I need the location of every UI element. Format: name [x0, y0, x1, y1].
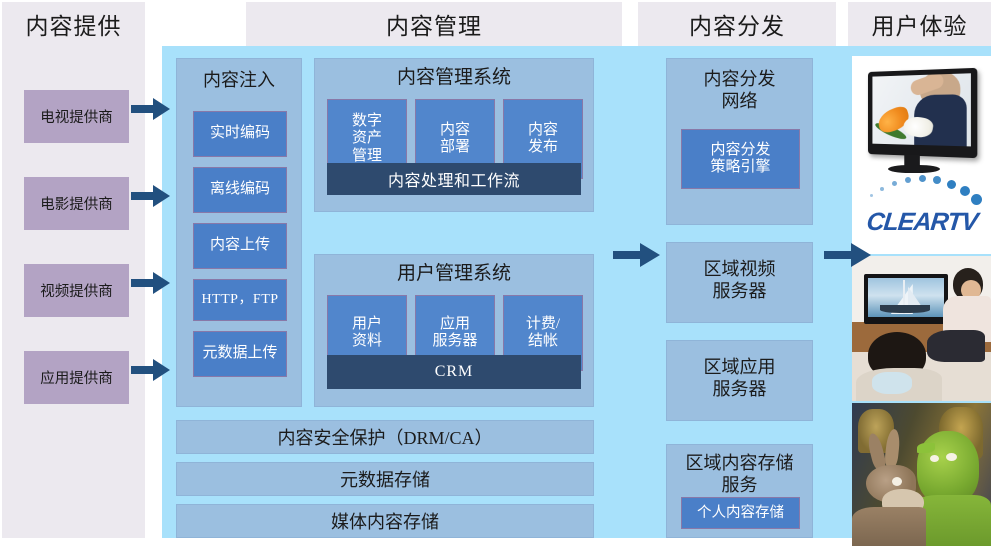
column-header-content-distribute: 内容分发	[638, 2, 836, 46]
arrow-tv-provider	[131, 96, 171, 122]
arrow-app-provider	[131, 357, 171, 383]
ums-cell-app-server-label: 应用 服务器	[432, 316, 477, 351]
arrow-video-provider	[131, 270, 171, 296]
tv-model-photo: CLEARTV	[852, 56, 991, 254]
ogre-eye-right	[946, 453, 957, 461]
ums-cell-billing-label: 计费/ 结帐	[526, 316, 560, 351]
bar-media-storage[interactable]: 媒体内容存储	[176, 504, 594, 538]
cms-cell-content-publish-label: 内容 发布	[528, 122, 558, 157]
hull	[880, 305, 930, 313]
provider-box-movie-label: 电影提供商	[40, 193, 113, 214]
chip-offline-encoding[interactable]: 离线编码	[193, 167, 287, 213]
cms-title: 内容管理系统	[315, 67, 593, 89]
column-header-content-distribute-label: 内容分发	[689, 7, 785, 41]
content-injection-title: 内容注入	[177, 70, 301, 91]
provider-box-tv-label: 电视提供商	[40, 106, 113, 127]
regional-video-server-box[interactable]: 区域视频 服务器	[666, 242, 813, 323]
cms-workflow-bar[interactable]: 内容处理和工作流	[327, 163, 581, 195]
woman-legs	[927, 330, 985, 362]
tv-screen-sailboat	[868, 278, 944, 317]
logo-dot-arc	[868, 174, 976, 204]
chip-http-ftp-label: HTTP，FTP	[201, 292, 278, 308]
cdn-panel: 内容分发 网络 内容分发 策略引擎	[666, 58, 813, 225]
regional-content-storage-panel: 区域内容存储 服务 个人内容存储	[666, 444, 813, 538]
cleartv-logo: CLEARTV	[858, 202, 986, 242]
bar-content-security-label: 内容安全保护（DRM/CA）	[277, 424, 492, 450]
cdn-title: 内容分发 网络	[667, 69, 812, 112]
column-header-content-manage-label: 内容管理	[386, 7, 482, 41]
architecture-diagram: 内容提供 内容管理 内容分发 用户体验 电视提供商 电影提供商 视频提供商 应用…	[0, 0, 993, 548]
blue-backdrop: 内容注入 实时编码 离线编码 内容上传 HTTP，FTP 元数据上传 内容管理系…	[162, 46, 991, 538]
bar-media-storage-label: 媒体内容存储	[331, 508, 439, 534]
cms-cell-digital-asset-management-label: 数字 资产 管理	[352, 113, 382, 165]
chip-metadata-upload[interactable]: 元数据上传	[193, 331, 287, 377]
ums-title: 用户管理系统	[315, 263, 593, 285]
provider-box-app-label: 应用提供商	[40, 367, 113, 388]
animated-movie-photo	[852, 403, 991, 546]
user-experience-photo-stack: CLEARTV	[852, 56, 991, 536]
chip-personal-content-storage-label: 个人内容存储	[697, 505, 784, 522]
arrow-distribute-to-experience	[824, 241, 872, 269]
provider-box-video[interactable]: 视频提供商	[24, 264, 129, 317]
chip-realtime-encoding-label: 实时编码	[210, 125, 270, 142]
column-header-user-experience: 用户体验	[848, 2, 991, 46]
chip-cdn-policy-engine[interactable]: 内容分发 策略引擎	[681, 129, 800, 189]
bar-metadata-storage-label: 元数据存储	[340, 466, 430, 492]
chip-metadata-upload-label: 元数据上传	[202, 345, 277, 362]
chip-offline-encoding-label: 离线编码	[210, 181, 270, 198]
ums-crm-bar-label: CRM	[435, 363, 474, 381]
flat-tv-icon	[864, 274, 948, 324]
donkey-eye	[892, 477, 902, 486]
child-shirt	[872, 372, 912, 394]
content-injection-panel: 内容注入 实时编码 离线编码 内容上传 HTTP，FTP 元数据上传	[176, 58, 302, 407]
column-header-content-provide-label: 内容提供	[26, 7, 122, 41]
column-header-content-manage: 内容管理	[246, 2, 622, 46]
provider-box-movie[interactable]: 电影提供商	[24, 177, 129, 230]
provider-box-video-label: 视频提供商	[40, 280, 113, 301]
arrow-movie-provider	[131, 183, 171, 209]
ogre-eye-left	[930, 455, 939, 462]
ums-crm-bar[interactable]: CRM	[327, 355, 581, 389]
chip-content-upload-label: 内容上传	[210, 237, 270, 254]
regional-app-server-label: 区域应用 服务器	[667, 357, 812, 400]
tv-frame-icon	[868, 68, 977, 158]
family-watching-tv-photo	[852, 256, 991, 401]
ogre-ear	[917, 443, 935, 453]
chip-http-ftp[interactable]: HTTP，FTP	[193, 279, 287, 321]
arrow-manage-to-distribute	[613, 241, 661, 269]
column-header-content-provide: 内容提供	[2, 2, 145, 46]
bar-metadata-storage[interactable]: 元数据存储	[176, 462, 594, 496]
chip-personal-content-storage[interactable]: 个人内容存储	[681, 497, 800, 529]
donkey-body	[852, 507, 926, 546]
tv-screen	[872, 73, 971, 146]
ums-panel: 用户管理系统 用户 资料 应用 服务器 计费/ 结帐 CRM	[314, 254, 594, 407]
chip-realtime-encoding[interactable]: 实时编码	[193, 111, 287, 157]
regional-app-server-box[interactable]: 区域应用 服务器	[666, 340, 813, 421]
cms-panel: 内容管理系统 数字 资产 管理 内容 部署 内容 发布 内容处理和工作流	[314, 58, 594, 212]
cms-cell-content-deploy-label: 内容 部署	[440, 122, 470, 157]
cms-workflow-bar-label: 内容处理和工作流	[388, 167, 520, 191]
regional-content-storage-title: 区域内容存储 服务	[667, 453, 812, 496]
chip-cdn-policy-engine-label: 内容分发 策略引擎	[710, 142, 770, 177]
column-header-user-experience-label: 用户体验	[872, 7, 968, 41]
tv-stand-base	[888, 165, 940, 173]
provider-box-app[interactable]: 应用提供商	[24, 351, 129, 404]
bar-content-security[interactable]: 内容安全保护（DRM/CA）	[176, 420, 594, 454]
provider-box-tv[interactable]: 电视提供商	[24, 90, 129, 143]
content-provide-column: 电视提供商 电影提供商 视频提供商 应用提供商	[2, 46, 145, 538]
ums-cell-user-profile-label: 用户 资料	[352, 316, 382, 351]
chip-content-upload[interactable]: 内容上传	[193, 223, 287, 269]
regional-video-server-label: 区域视频 服务器	[667, 259, 812, 302]
